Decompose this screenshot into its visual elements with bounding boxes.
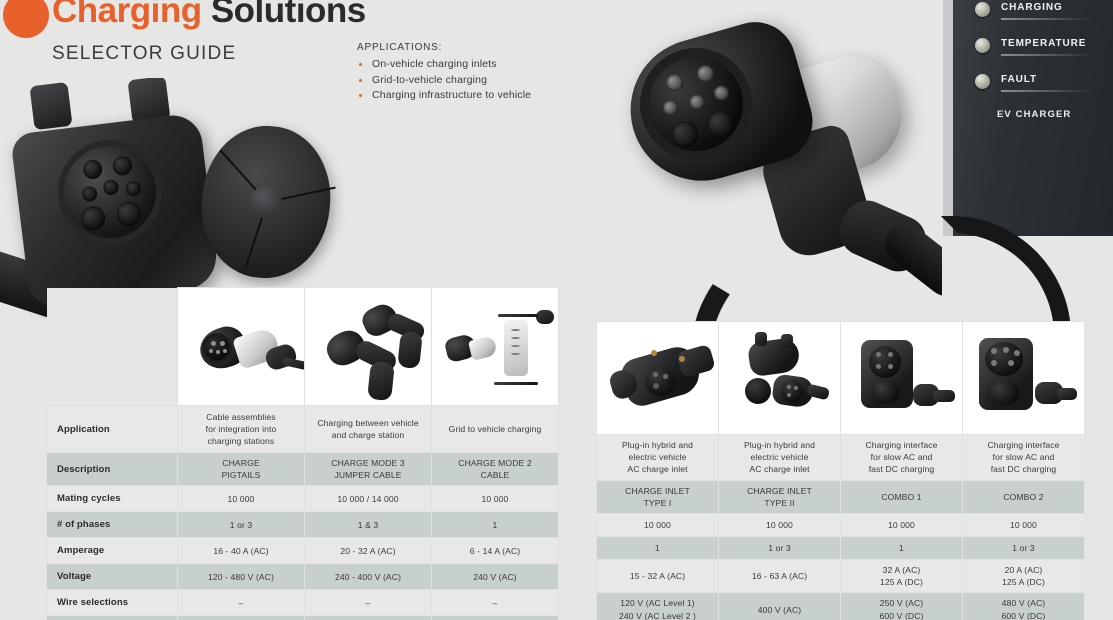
thumbnail-cell: [841, 322, 963, 435]
divider: [1001, 18, 1093, 20]
indicator-label-temperature: TEMPERATURE: [1001, 38, 1086, 49]
cell-value: 5 m: [432, 616, 559, 620]
table-row: Application Cable assemblies for integra…: [47, 406, 559, 453]
row-label: Voltage: [47, 564, 178, 590]
fault-led-icon: [975, 74, 990, 89]
brand-dot-icon: [3, 0, 49, 38]
row-label: # of phases: [47, 512, 178, 538]
cell-value: 400 V (AC): [719, 593, 841, 620]
table-row: # of phases 1 or 3 1 & 3 1: [47, 512, 559, 538]
cell-value: 1 or 3: [963, 537, 1085, 560]
cell-value: 1: [432, 512, 559, 538]
right-comparison-table: Plug-in hybrid and electric vehicle AC c…: [596, 321, 1085, 620]
cell-value: 10 000: [719, 514, 841, 537]
inlet-tab-shape: [29, 82, 72, 130]
row-label: Wire selections: [47, 590, 178, 616]
page-title-accent: Charging: [52, 0, 202, 30]
cell-value: 10 000 / 14 000: [305, 486, 432, 512]
cell-value: 120 V (AC Level 1) 240 V (AC Level 2 ): [597, 593, 719, 620]
cell-value: 5 - 7,6 m: [178, 616, 305, 620]
cell-value: CHARGE INLET TYPE II: [719, 480, 841, 513]
thumbnail-cell: [305, 288, 432, 406]
row-label: Cable length: [47, 616, 178, 620]
combo-1-inlet-thumb: [841, 322, 962, 434]
table-row: 1 1 or 3 1 1 or 3: [597, 537, 1085, 560]
table-row-thumbnails: [597, 322, 1085, 435]
cell-value: 10 000: [597, 514, 719, 537]
cell-value: 20 A (AC) 125 A (DC): [963, 560, 1085, 593]
cell-value: COMBO 1: [841, 480, 963, 513]
page-title: Charging Solutions: [52, 0, 366, 31]
cell-value: 10 000: [178, 486, 305, 512]
table-row: Mating cycles 10 000 10 000 / 14 000 10 …: [47, 486, 559, 512]
cell-value: 10 000: [963, 514, 1085, 537]
cell-value: 4 - 7 m: [305, 616, 432, 620]
table-row: Description CHARGE PIGTAILS CHARGE MODE …: [47, 453, 559, 486]
row-label: Amperage: [47, 538, 178, 564]
cell-value: –: [305, 590, 432, 616]
applications-title: APPLICATIONS:: [357, 42, 531, 53]
cell-value: 1: [841, 537, 963, 560]
thumbnail-cell: [597, 322, 719, 435]
charge-inlet-type-2-thumb: [719, 322, 840, 434]
indicator-label-fault: FAULT: [1001, 74, 1037, 85]
charge-inlet-type-1-thumb: [597, 322, 718, 434]
divider: [1001, 90, 1093, 92]
cell-value: CHARGE MODE 3 JUMPER CABLE: [305, 453, 432, 486]
cell-value: 15 - 32 A (AC): [597, 560, 719, 593]
mode3-jumper-cable-thumb: [305, 288, 431, 405]
cell-value: Charging interface for slow AC and fast …: [841, 435, 963, 481]
left-comparison-table: Application Cable assemblies for integra…: [46, 287, 559, 620]
table-row-thumbnails: [47, 288, 559, 406]
cell-value: Cable assemblies for integration into ch…: [178, 406, 305, 453]
temperature-led-icon: [975, 38, 990, 53]
table-row: Amperage 16 - 40 A (AC) 20 - 32 A (AC) 6…: [47, 538, 559, 564]
cell-value: 240 V (AC): [432, 564, 559, 590]
cell-value: 250 V (AC) 600 V (DC): [841, 593, 963, 620]
thumbnail-cell: [432, 288, 559, 406]
cell-value: Grid to vehicle charging: [432, 406, 559, 453]
cell-value: 32 A (AC) 125 A (DC): [841, 560, 963, 593]
cell-value: 20 - 32 A (AC): [305, 538, 432, 564]
charge-pigtail-connector-thumb: [178, 288, 304, 405]
row-label: Application: [47, 406, 178, 453]
cell-value: –: [432, 590, 559, 616]
cell-value: 120 - 480 V (AC): [178, 564, 305, 590]
cell-value: Plug-in hybrid and electric vehicle AC c…: [597, 435, 719, 481]
cell-value: 10 000: [841, 514, 963, 537]
cell-value: Charging between vehicle and charge stat…: [305, 406, 432, 453]
cell-value: –: [178, 590, 305, 616]
table-row: Plug-in hybrid and electric vehicle AC c…: [597, 435, 1085, 481]
page-title-rest: Solutions: [202, 0, 366, 30]
thumbnail-cell: [719, 322, 841, 435]
table-row: 15 - 32 A (AC) 16 - 63 A (AC) 32 A (AC) …: [597, 560, 1085, 593]
table-row: Wire selections – – –: [47, 590, 559, 616]
ev-charger-panel: CHARGING TEMPERATURE FAULT EV CHARGER: [943, 0, 1113, 236]
thumbnail-cell: [178, 288, 305, 406]
cell-value: CHARGE INLET TYPE I: [597, 480, 719, 513]
list-item: On-vehicle charging inlets: [357, 58, 531, 70]
cell-value: 480 V (AC) 600 V (DC): [963, 593, 1085, 620]
indicator-label-charging: CHARGING: [1001, 2, 1063, 13]
row-label: Mating cycles: [47, 486, 178, 512]
mode2-portable-cable-thumb: [432, 288, 558, 405]
table-row: Voltage 120 - 480 V (AC) 240 - 400 V (AC…: [47, 564, 559, 590]
cell-value: 16 - 40 A (AC): [178, 538, 305, 564]
cell-value: 1 or 3: [719, 537, 841, 560]
table-row: 120 V (AC Level 1) 240 V (AC Level 2 ) 4…: [597, 593, 1085, 620]
cell-value: CHARGE PIGTAILS: [178, 453, 305, 486]
cell-value: 6 - 14 A (AC): [432, 538, 559, 564]
selector-guide-page: Charging Solutions SELECTOR GUIDE APPLIC…: [0, 0, 1113, 620]
cell-value: Charging interface for slow AC and fast …: [963, 435, 1085, 481]
page-subtitle: SELECTOR GUIDE: [52, 43, 236, 65]
table-row: Cable length 5 - 7,6 m 4 - 7 m 5 m: [47, 616, 559, 620]
divider: [1001, 54, 1093, 56]
cell-value: 1 & 3: [305, 512, 432, 538]
cell-value: 240 - 400 V (AC): [305, 564, 432, 590]
cell-value: 10 000: [432, 486, 559, 512]
table-row: 10 000 10 000 10 000 10 000: [597, 514, 1085, 537]
table-row: CHARGE INLET TYPE I CHARGE INLET TYPE II…: [597, 480, 1085, 513]
charging-led-icon: [975, 2, 990, 17]
row-label: Description: [47, 453, 178, 486]
cell-value: 1 or 3: [178, 512, 305, 538]
cell-value: 16 - 63 A (AC): [719, 560, 841, 593]
cell-value: CHARGE MODE 2 CABLE: [432, 453, 559, 486]
cell-value: Plug-in hybrid and electric vehicle AC c…: [719, 435, 841, 481]
thumbnail-cell: [963, 322, 1085, 435]
charger-brand-label: EV CHARGER: [997, 109, 1071, 120]
cell-value: COMBO 2: [963, 480, 1085, 513]
cell-value: 1: [597, 537, 719, 560]
combo-2-inlet-thumb: [963, 322, 1084, 434]
